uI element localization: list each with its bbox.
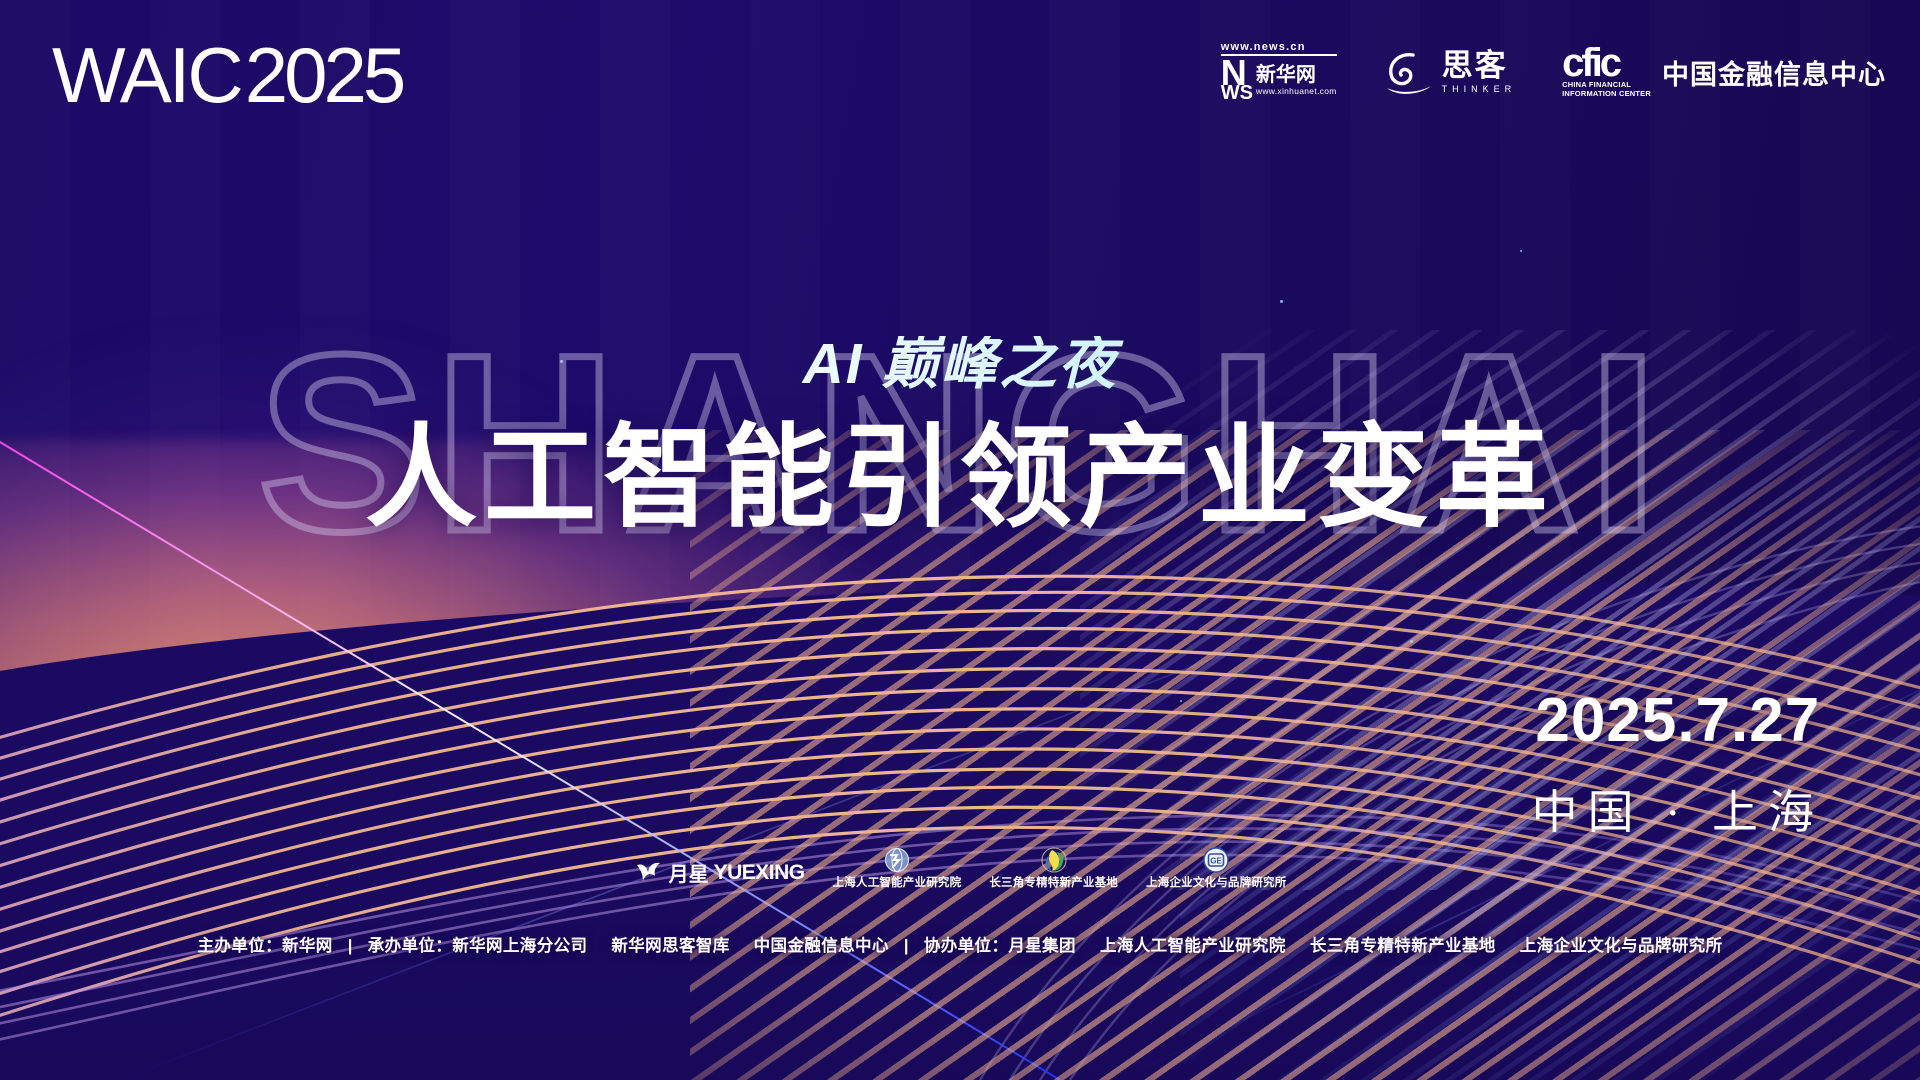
event-headline: 人工智能引领产业变革 bbox=[0, 415, 1920, 540]
partner-logo-row: www.news.cn N WS 新华网 www.xinhuanet.com 思… bbox=[1221, 34, 1886, 110]
saiia-globe-icon bbox=[882, 846, 912, 876]
footer-organizer-1: 承办单位：新华网上海分公司 bbox=[368, 937, 588, 955]
sponsor-yangtze-delta: 长三角专精特新产业基地 bbox=[989, 846, 1118, 890]
xinhuanet-cn-name: 新华网 bbox=[1256, 65, 1337, 85]
footer-host: 主办单位：新华网 bbox=[198, 937, 333, 955]
yuexing-en: YUEXING bbox=[714, 861, 805, 885]
footer-separator-2: | bbox=[894, 937, 919, 956]
cfic-logo: cfic CHINA FINANCIAL INFORMATION CENTER … bbox=[1562, 45, 1886, 98]
cfic-en-line2: INFORMATION CENTER bbox=[1562, 90, 1651, 99]
footer-coorganizer-2: 上海人工智能产业研究院 bbox=[1100, 937, 1286, 955]
svg-text:GE: GE bbox=[1210, 857, 1222, 866]
xinhuanet-mark-ws: WS bbox=[1221, 84, 1253, 102]
footer-coorganizer-1: 协办单位：月星集团 bbox=[924, 937, 1076, 955]
waic-logo-word: WAIC bbox=[52, 36, 241, 114]
cfic-mark: cfic bbox=[1562, 45, 1651, 81]
waic-logo-year: 2025 bbox=[245, 36, 403, 114]
star-dot bbox=[1520, 250, 1522, 252]
star-dot bbox=[1410, 640, 1413, 643]
thinker-en-name: THINKER bbox=[1442, 84, 1517, 94]
footer-organizer-2: 新华网思客智库 bbox=[611, 937, 729, 955]
brand-institute-icon: GE bbox=[1201, 846, 1231, 876]
xinhuanet-url-bottom: www.xinhuanet.com bbox=[1256, 87, 1337, 96]
yangtze-delta-icon bbox=[1039, 846, 1069, 876]
thinker-brush-icon bbox=[1383, 47, 1435, 97]
footer-coorganizer-3: 长三角专精特新产业基地 bbox=[1310, 937, 1496, 955]
star-dot bbox=[1180, 700, 1182, 702]
thinker-cn-name: 思客 bbox=[1442, 50, 1517, 81]
event-location: 中国 · 上海 bbox=[1532, 776, 1824, 842]
footer-separator-1: | bbox=[338, 937, 363, 956]
xinhuanet-logo: www.news.cn N WS 新华网 www.xinhuanet.com bbox=[1221, 42, 1337, 102]
cfic-cn-name: 中国金融信息中心 bbox=[1662, 53, 1886, 92]
event-subtitle: AI 巅峰之夜 bbox=[0, 336, 1920, 393]
event-date-block: 2025.7.27 中国 · 上海 bbox=[1532, 690, 1824, 842]
yuexing-cn: 月星 bbox=[669, 858, 709, 887]
waic-logo: WAIC 2025 bbox=[52, 36, 402, 114]
yangtze-delta-label: 长三角专精特新产业基地 bbox=[989, 878, 1118, 890]
footer-coorganizer-4: 上海企业文化与品牌研究所 bbox=[1520, 937, 1723, 955]
sponsor-brand-institute: GE 上海企业文化与品牌研究所 bbox=[1146, 846, 1286, 890]
thinker-logo: 思客 THINKER bbox=[1383, 47, 1517, 97]
saiia-label: 上海人工智能产业研究院 bbox=[833, 878, 962, 890]
sponsor-logo-row: 月星 YUEXING 上海人工智能产业研究院 长三角专精特新产业基地 bbox=[0, 846, 1920, 890]
yuexing-star-icon bbox=[634, 858, 664, 888]
footer-credits: 主办单位：新华网 | 承办单位：新华网上海分公司 新华网思客智库 中国金融信息中… bbox=[0, 932, 1920, 956]
sponsor-saiia: 上海人工智能产业研究院 bbox=[833, 846, 962, 890]
poster-canvas: SHANGHAI WAIC 2025 www.news.cn N WS 新华网 … bbox=[0, 0, 1920, 1080]
event-date: 2025.7.27 bbox=[1532, 690, 1824, 752]
sponsor-yuexing: 月星 YUEXING bbox=[634, 856, 805, 890]
brand-institute-label: 上海企业文化与品牌研究所 bbox=[1146, 878, 1286, 890]
footer-organizer-3: 中国金融信息中心 bbox=[754, 937, 889, 955]
